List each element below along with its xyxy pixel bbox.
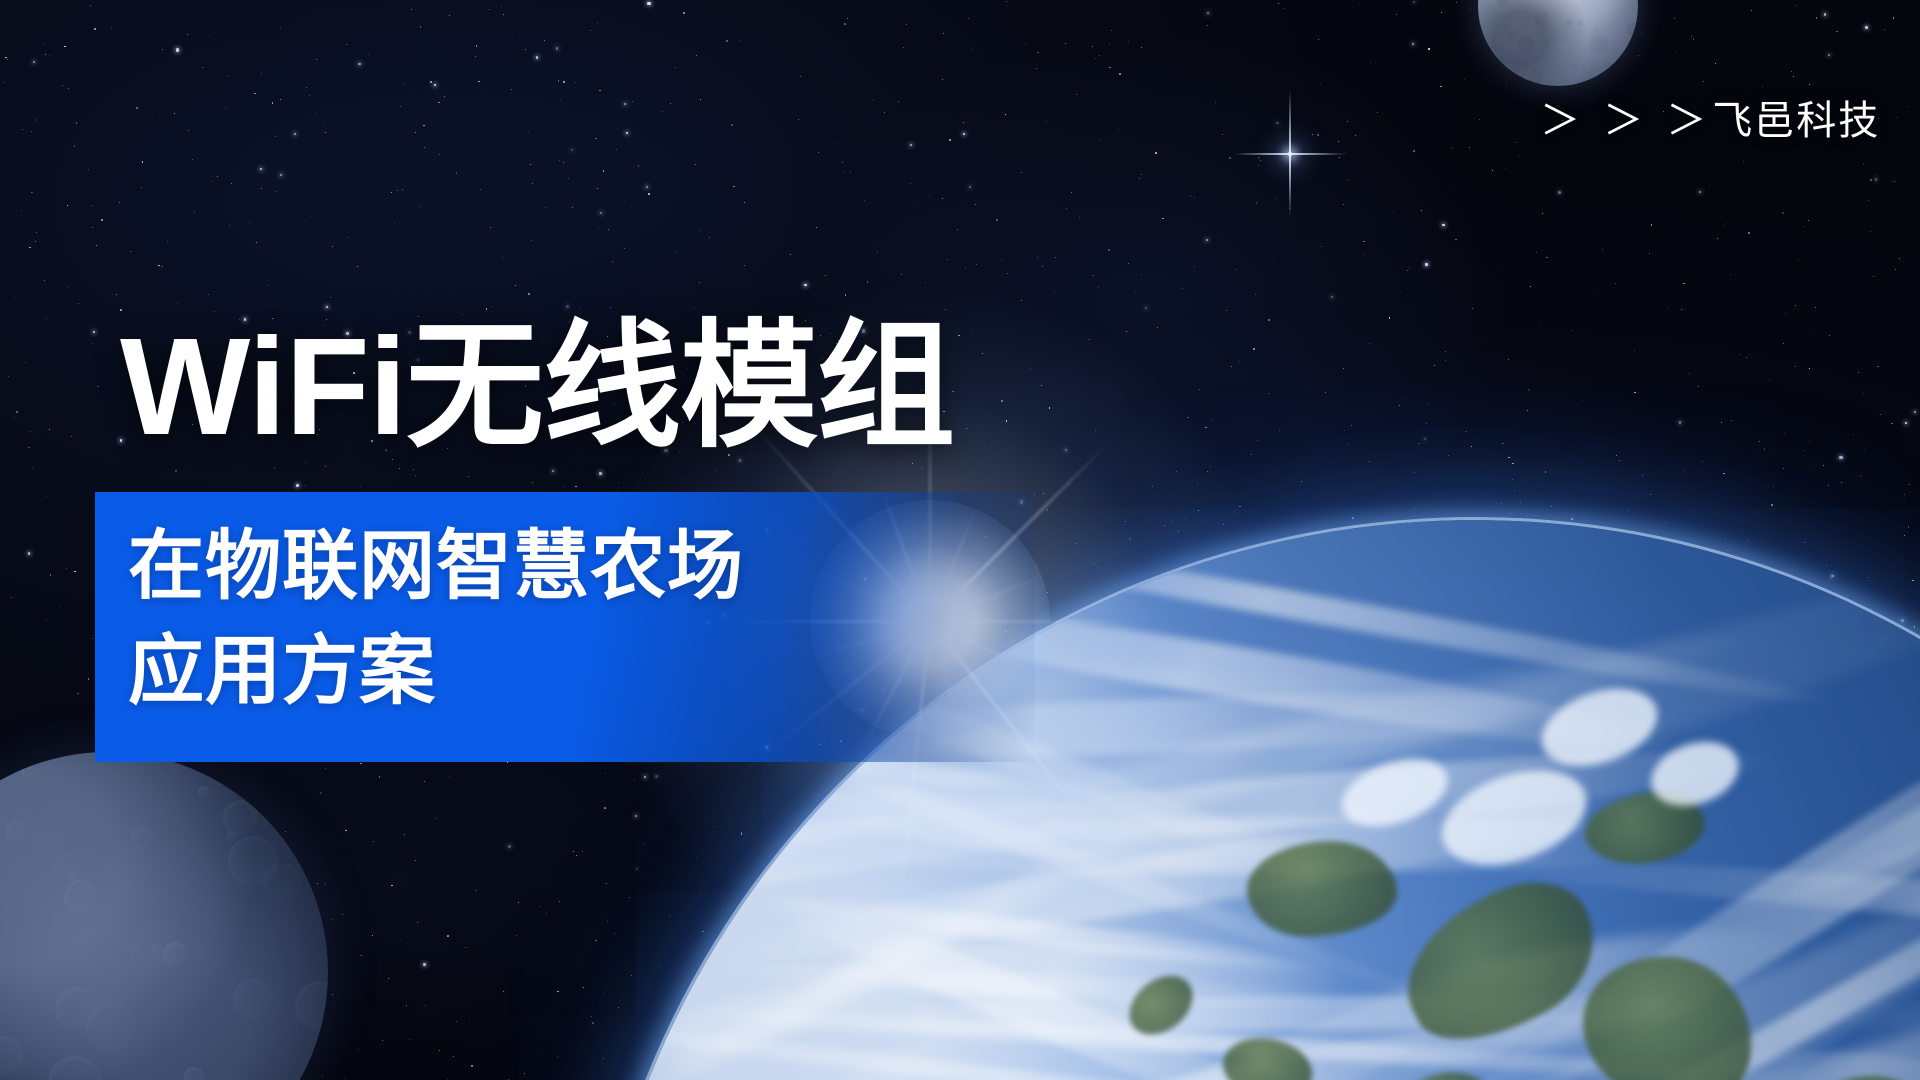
chevron-right-icon: ＞ ＞ ＞ [1540,99,1712,143]
poster-canvas: ＞ ＞ ＞飞邑科技 WiFi无线模组 在物联网智慧农场 应用方案 [0,0,1920,1080]
brand-name: 飞邑科技 [1712,99,1880,143]
page-title: WiFi无线模组 [120,318,954,456]
brand-logo: ＞ ＞ ＞飞邑科技 [1540,88,1880,146]
bright-star-flare [1288,152,1292,156]
subtitle-text: 在物联网智慧农场 应用方案 [128,515,1028,725]
subtitle-line-2: 应用方案 [128,620,1028,725]
subtitle-line-1: 在物联网智慧农场 [128,515,1028,620]
